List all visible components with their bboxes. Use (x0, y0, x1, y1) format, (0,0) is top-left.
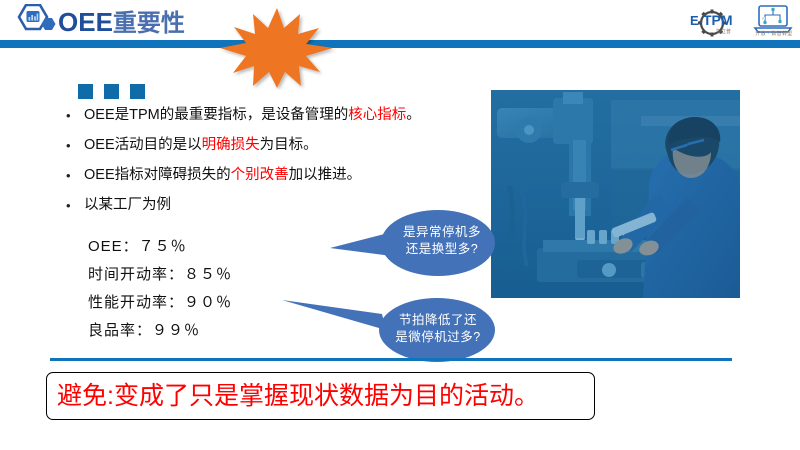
decorative-square-3 (130, 84, 145, 99)
callout-2-line-1: 节拍降低了还 (384, 312, 492, 329)
laptop-logo-caption: 开放 · 数智转型 (748, 30, 800, 37)
metrics-list: OEE：７５％ 时间开动率：８５％ 性能开动率：９０％ 良品率：９９％ (88, 233, 232, 345)
bullet-text: OEE是TPM的最重要指标，是设备管理的核心指标。 (84, 106, 421, 125)
metric-performance: 性能开动率：９０％ (88, 289, 232, 317)
bullet-marker: • (66, 196, 84, 215)
bullet-marker: • (66, 106, 84, 125)
slide-canvas: OEE重要性 (0, 0, 800, 450)
warning-banner-text: 避免:变成了只是掌握现状数据为目的活动。 (47, 382, 539, 410)
callout-bubble-2: 节拍降低了还 是微停机过多? (282, 290, 497, 368)
header-accent-bar (0, 40, 800, 48)
callout-1-line-2: 还是换型多? (392, 241, 492, 258)
bullet-marker: • (66, 136, 84, 155)
factory-photo (491, 90, 740, 298)
bullet-text: OEE指标对障碍损失的个别改善加以推进。 (84, 166, 361, 185)
bullet-item: • OEE指标对障碍损失的个别改善加以推进。 (66, 166, 486, 185)
metric-availability: 时间开动率：８５％ (88, 261, 232, 289)
svg-text:协立普: 协立普 (716, 28, 731, 35)
warning-banner: 避免:变成了只是掌握现状数据为目的活动。 (46, 372, 595, 420)
bottom-divider (50, 358, 732, 361)
oee-hexagon-logo-icon (12, 4, 58, 38)
callout-1-line-1: 是异常停机多 (392, 224, 492, 241)
bullet-marker: • (66, 166, 84, 185)
metric-quality: 良品率：９９％ (88, 317, 232, 345)
callout-bubble-2-text: 节拍降低了还 是微停机过多? (384, 312, 492, 346)
bullet-item: • OEE活动目的是以明确损失为目标。 (66, 136, 486, 155)
orange-starburst-icon (218, 6, 336, 90)
callout-bubble-1: 是异常停机多 还是换型多? (330, 208, 495, 280)
svg-text:TPM: TPM (703, 12, 733, 28)
etpm-logo-icon: E- TPM 协立普 (684, 3, 744, 39)
callout-bubble-1-text: 是异常停机多 还是换型多? (392, 224, 492, 258)
page-title-en: OEE (58, 7, 113, 37)
callout-2-line-2: 是微停机过多? (384, 329, 492, 346)
decorative-square-1 (78, 84, 93, 99)
bullet-text: 以某工厂为例 (84, 196, 171, 215)
svg-text:E-: E- (690, 13, 703, 28)
decorative-square-2 (104, 84, 119, 99)
metric-oee: OEE：７５％ (88, 233, 232, 261)
page-title-cn: 重要性 (113, 10, 185, 37)
bullet-item: • OEE是TPM的最重要指标，是设备管理的核心指标。 (66, 106, 486, 125)
bullet-text: OEE活动目的是以明确损失为目标。 (84, 136, 318, 155)
decorative-squares (78, 84, 145, 99)
page-title: OEE重要性 (58, 6, 185, 38)
